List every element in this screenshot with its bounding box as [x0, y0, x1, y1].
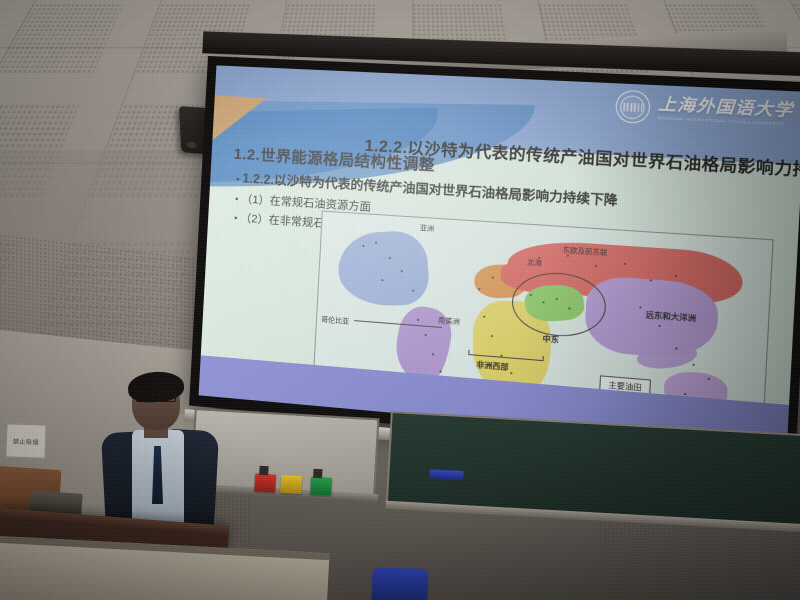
blackboard-eraser[interactable] [429, 469, 463, 480]
projection-screen-frame: 上海外国语大学 SHANGHAI INTERNATIONAL STUDIES U… [189, 56, 800, 461]
lecture-hall-scene: 禁止吸烟 上海外国语大学 SHANGHAI INTERNATIONAL STUD… [0, 0, 800, 600]
map-label-asia: 亚洲 [420, 222, 435, 233]
presentation-slide: 上海外国语大学 SHANGHAI INTERNATIONAL STUDIES U… [199, 65, 800, 448]
bullet-marker-icon-2: • [235, 194, 239, 204]
marker-cap-left [259, 466, 268, 475]
wall-sign: 禁止吸烟 [5, 423, 46, 458]
glasses-icon [136, 392, 176, 400]
marker-box-green[interactable] [310, 477, 332, 496]
map-label-middle-east: 中东 [542, 333, 559, 346]
marker-cap-right [313, 469, 322, 478]
marker-box-yellow[interactable] [280, 475, 302, 494]
map-label-north-sea: 北海 [527, 256, 542, 267]
university-seal-icon [615, 90, 651, 124]
projection-screen: 上海外国语大学 SHANGHAI INTERNATIONAL STUDIES U… [199, 65, 800, 448]
bullet-marker-icon: • [236, 174, 240, 184]
blue-chair-back [371, 567, 428, 600]
map-label-colombia: 哥伦比亚 [321, 313, 350, 325]
header-orange-triangle [208, 95, 267, 146]
marker-box-red[interactable] [254, 473, 276, 492]
map-label-south-america: 南美洲 [438, 314, 460, 326]
university-logo: 上海外国语大学 SHANGHAI INTERNATIONAL STUDIES U… [615, 90, 794, 132]
bullet-marker-icon-3: • [234, 213, 238, 223]
